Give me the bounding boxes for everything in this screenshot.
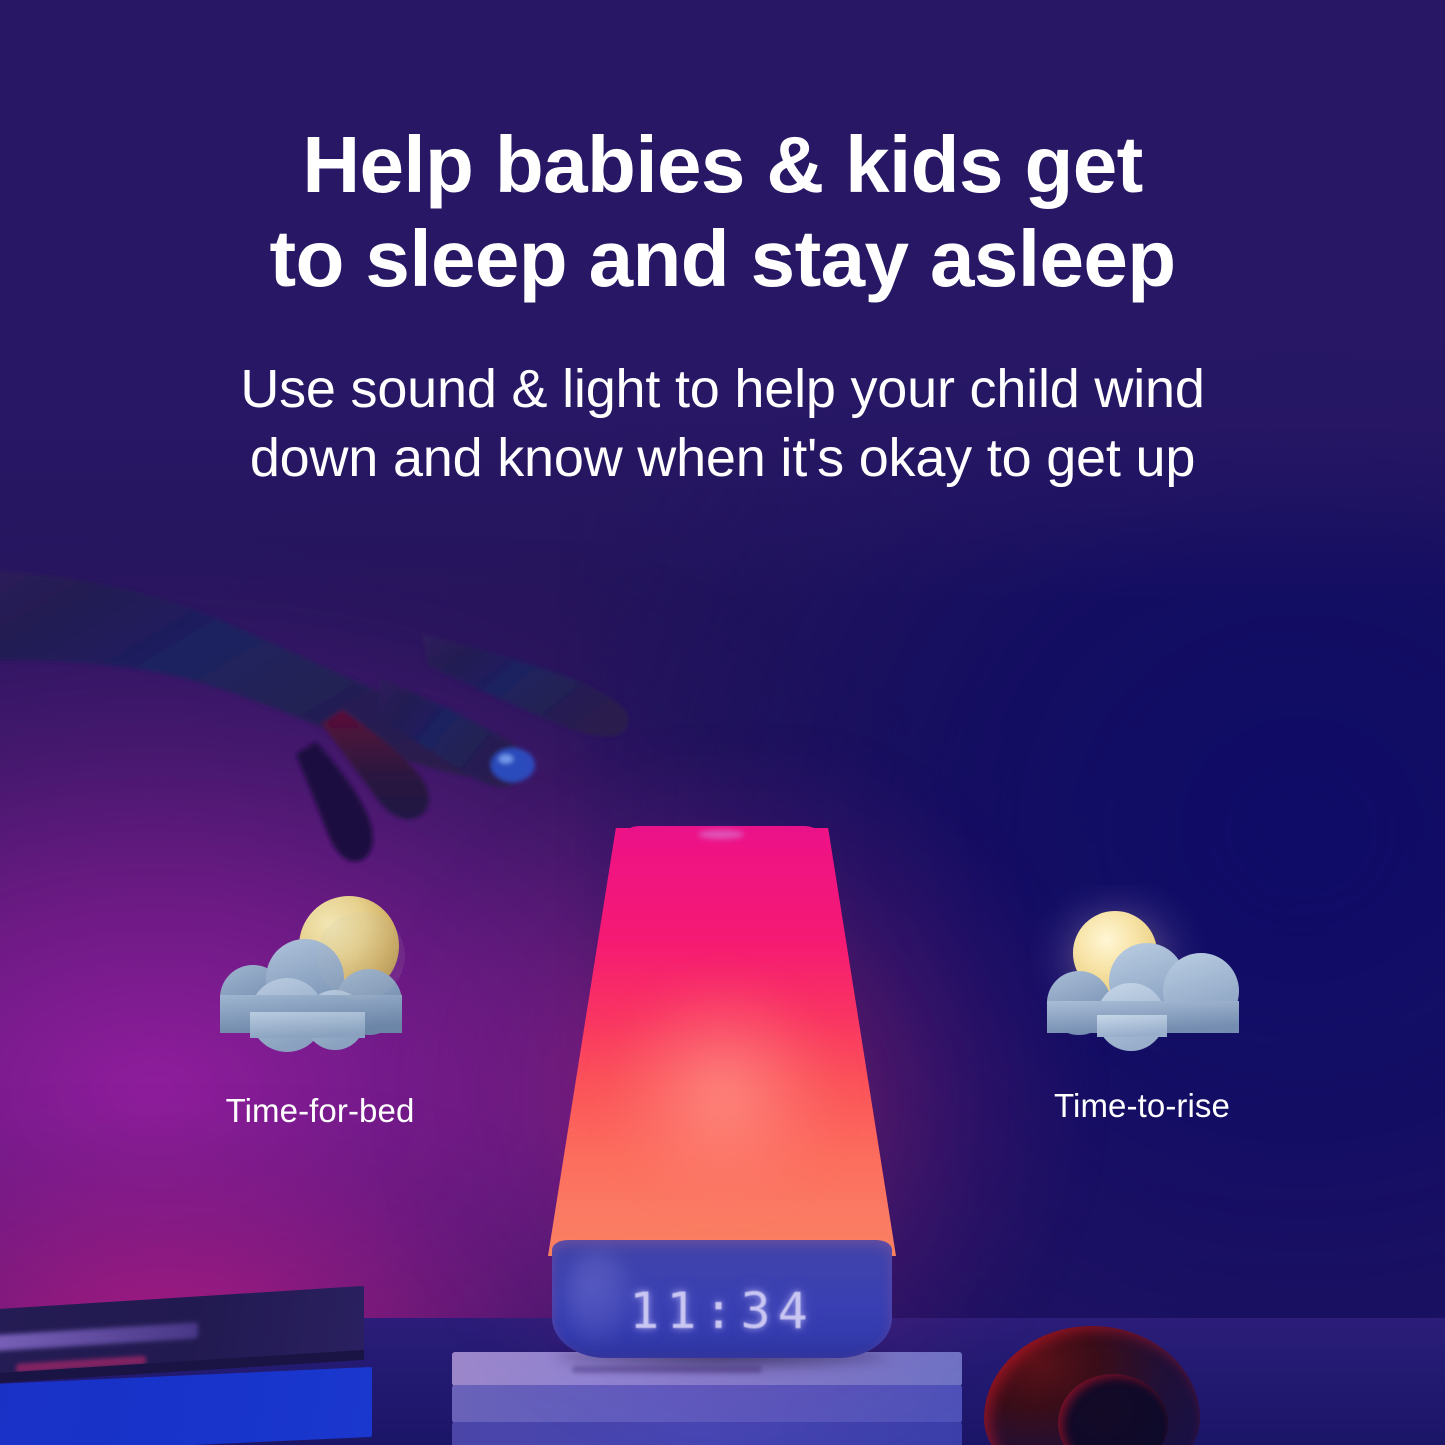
feature-time-for-bed: Time-for-bed [200, 890, 440, 1130]
subtitle-line-2: down and know when it's okay to get up [0, 424, 1445, 493]
feature-label: Time-to-rise [1018, 1087, 1266, 1125]
marketing-copy: Help babies & kids get to sleep and stay… [0, 0, 1445, 493]
books-left-foreground [0, 1292, 380, 1445]
headline-line-2: to sleep and stay asleep [0, 212, 1445, 306]
page-subtitle: Use sound & light to help your child win… [0, 307, 1445, 493]
dark-object-bottom-right [960, 1318, 1260, 1445]
clock-display: 11:34 [548, 1282, 896, 1340]
page-headline: Help babies & kids get to sleep and stay… [0, 0, 1445, 307]
book-slab-bottom [452, 1422, 962, 1445]
sun-behind-clouds-icon [1031, 885, 1253, 1075]
lamp-hotspot [608, 978, 838, 1208]
nightlight-lamp: 11:34 [548, 828, 896, 1358]
product-marketing-image: 11:34 [0, 0, 1445, 1445]
feature-time-to-rise: Time-to-rise [1018, 885, 1266, 1125]
book-title-blur [0, 1322, 198, 1351]
lamp-cap-highlight [698, 830, 744, 839]
subtitle-line-1: Use sound & light to help your child win… [0, 355, 1445, 424]
moon-behind-clouds-icon [209, 890, 431, 1080]
headline-line-1: Help babies & kids get [0, 118, 1445, 212]
book-slab-middle [452, 1385, 962, 1423]
feature-label: Time-for-bed [200, 1092, 440, 1130]
